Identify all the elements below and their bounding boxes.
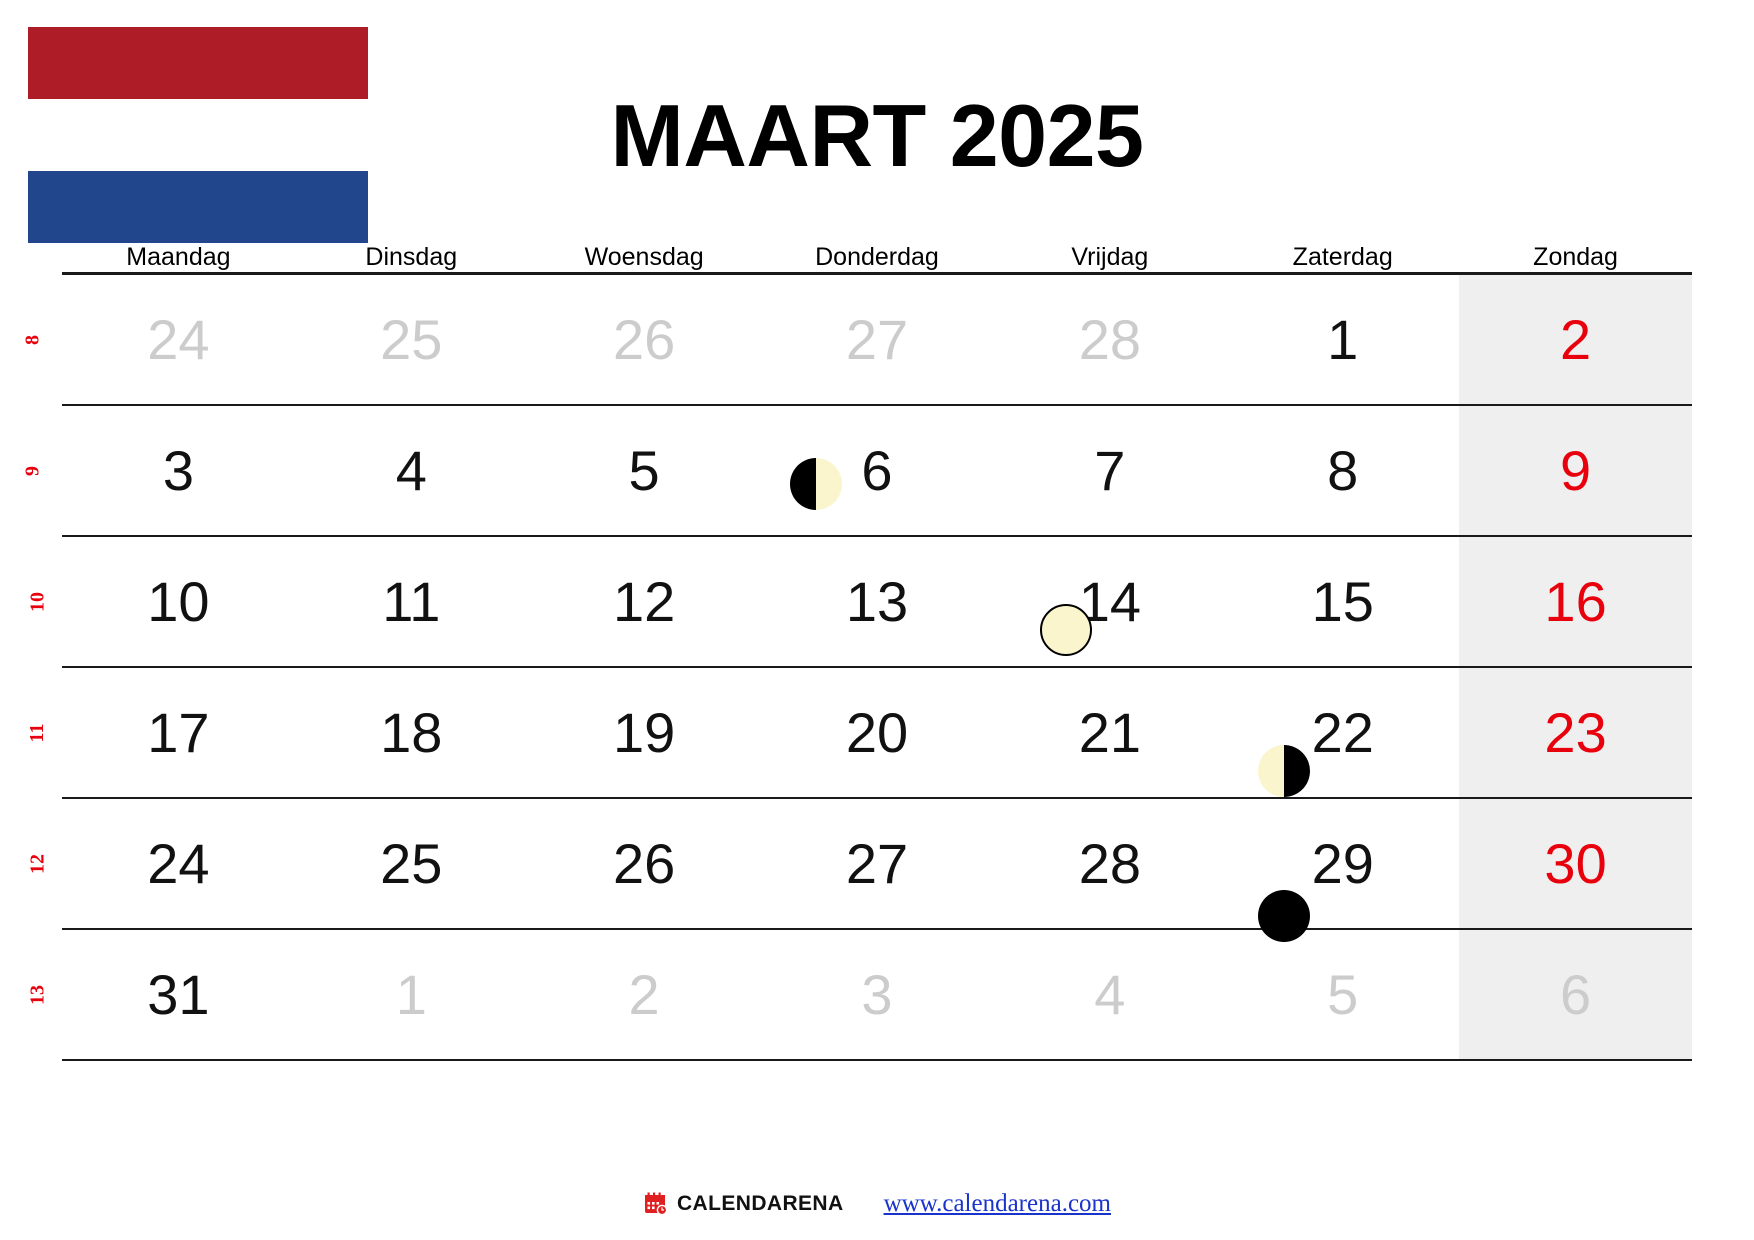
week-row: 9 3 4 5 6 7 8 9: [62, 406, 1692, 537]
moon-full-icon: [1040, 604, 1092, 656]
day-cell[interactable]: 20: [761, 668, 994, 797]
calendar: Maandag Dinsdag Woensdag Donderdag Vrijd…: [62, 236, 1692, 1061]
day-cell[interactable]: 3: [62, 406, 295, 535]
week-number: 11: [26, 723, 49, 742]
week-number: 9: [22, 466, 45, 476]
day-cell[interactable]: 24: [62, 799, 295, 928]
day-cell[interactable]: 21: [993, 668, 1226, 797]
flag-band-red: [28, 27, 368, 99]
day-cell[interactable]: 25: [295, 799, 528, 928]
day-cell[interactable]: 26: [528, 799, 761, 928]
day-cell[interactable]: 19: [528, 668, 761, 797]
day-cell[interactable]: 25: [295, 275, 528, 404]
week-number: 13: [27, 985, 50, 1005]
day-cell[interactable]: 18: [295, 668, 528, 797]
day-cell[interactable]: 12: [528, 537, 761, 666]
day-cell[interactable]: 4: [993, 930, 1226, 1059]
page-header: MAART 2025: [0, 0, 1754, 250]
week-row: 8 24 25 26 27 28 1 2: [62, 275, 1692, 406]
week-row: 11 17 18 19 20 21 22 23: [62, 668, 1692, 799]
weekday-header-dinsdag: Dinsdag: [295, 245, 528, 272]
day-cell[interactable]: 1: [1226, 275, 1459, 404]
day-cell[interactable]: 17: [62, 668, 295, 797]
day-cell[interactable]: 7: [993, 406, 1226, 535]
weekday-header-maandag: Maandag: [62, 245, 295, 272]
page-footer: CALENDARENA www.calendarena.com: [0, 1190, 1754, 1218]
day-cell[interactable]: 13: [761, 537, 994, 666]
day-cell[interactable]: 27: [761, 799, 994, 928]
day-cell[interactable]: 2: [1459, 275, 1692, 404]
weekday-header-zondag: Zondag: [1459, 245, 1692, 272]
week-number: 10: [27, 592, 50, 612]
day-cell[interactable]: 28: [993, 799, 1226, 928]
weekday-header-donderdag: Donderdag: [761, 245, 994, 272]
day-cell[interactable]: 3: [761, 930, 994, 1059]
weekday-header-zaterdag: Zaterdag: [1226, 245, 1459, 272]
weekday-header-row: Maandag Dinsdag Woensdag Donderdag Vrijd…: [62, 236, 1692, 272]
day-cell[interactable]: 9: [1459, 406, 1692, 535]
moon-last-quarter-icon: [1258, 745, 1310, 797]
day-cell[interactable]: 24: [62, 275, 295, 404]
day-cell[interactable]: 4: [295, 406, 528, 535]
day-cell[interactable]: 8: [1226, 406, 1459, 535]
day-cell[interactable]: 1: [295, 930, 528, 1059]
day-cell[interactable]: 30: [1459, 799, 1692, 928]
day-cell[interactable]: 10: [62, 537, 295, 666]
day-cell[interactable]: 26: [528, 275, 761, 404]
week-row: 13 31 1 2 3 4 5 6: [62, 930, 1692, 1061]
day-cell[interactable]: 5: [1226, 930, 1459, 1059]
day-cell[interactable]: 2: [528, 930, 761, 1059]
week-row: 12 24 25 26 27 28 29 30: [62, 799, 1692, 930]
week-number: 8: [22, 335, 45, 345]
day-cell[interactable]: 28: [993, 275, 1226, 404]
site-link[interactable]: www.calendarena.com: [884, 1190, 1111, 1218]
brand-name: CALENDARENA: [677, 1192, 844, 1216]
day-cell[interactable]: 5: [528, 406, 761, 535]
weekday-header-vrijdag: Vrijdag: [993, 245, 1226, 272]
day-cell[interactable]: 27: [761, 275, 994, 404]
day-cell[interactable]: 11: [295, 537, 528, 666]
brand: CALENDARENA: [643, 1191, 844, 1217]
day-cell[interactable]: 6: [1459, 930, 1692, 1059]
week-number: 12: [27, 854, 50, 874]
calendar-icon: [643, 1191, 669, 1217]
day-cell[interactable]: 31: [62, 930, 295, 1059]
calendar-grid: 8 24 25 26 27 28 1 2 9 3 4 5 6 7 8 9 10 …: [62, 272, 1692, 1061]
day-cell[interactable]: 16: [1459, 537, 1692, 666]
flag-band-blue: [28, 171, 368, 243]
moon-first-quarter-icon: [790, 458, 842, 510]
page-title: MAART 2025: [0, 92, 1754, 180]
day-cell[interactable]: 15: [1226, 537, 1459, 666]
weekday-header-woensdag: Woensdag: [528, 245, 761, 272]
day-cell[interactable]: 23: [1459, 668, 1692, 797]
day-cell[interactable]: 14: [993, 537, 1226, 666]
moon-new-icon: [1258, 890, 1310, 942]
week-row: 10 10 11 12 13 14 15 16: [62, 537, 1692, 668]
